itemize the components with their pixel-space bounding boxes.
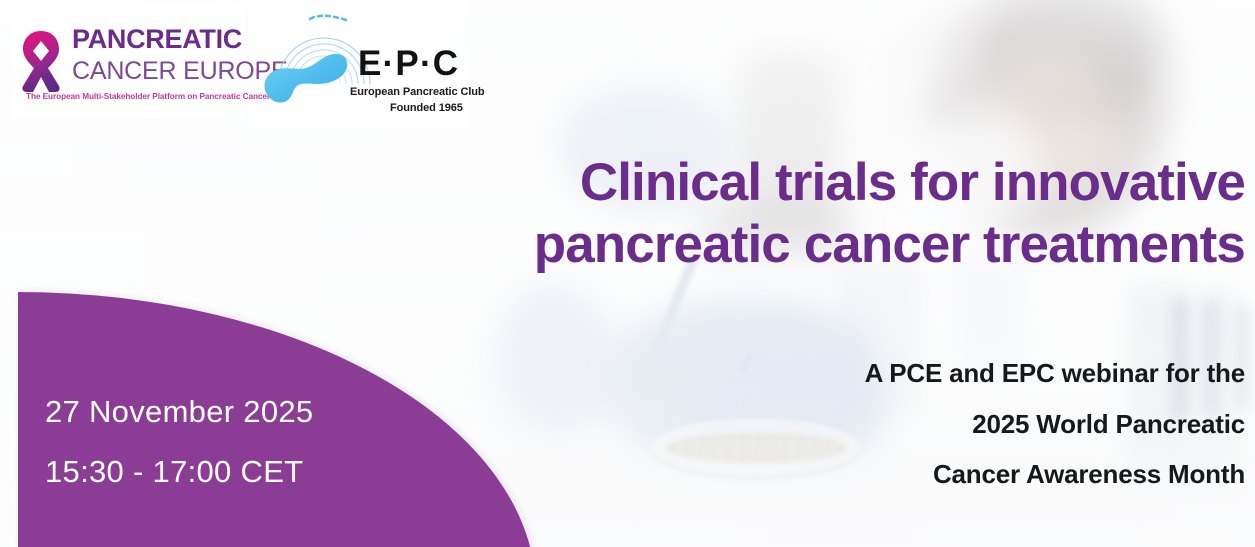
page-subtitle-line-3: Cancer Awareness Month	[640, 449, 1245, 500]
event-time: 15:30 - 17:00 CET	[45, 456, 313, 488]
awareness-ribbon-icon	[18, 30, 64, 94]
epc-name-line-1: European Pancreatic Club	[350, 86, 485, 98]
page-title-line-2: pancreatic cancer treatments	[300, 214, 1245, 276]
pce-tagline: The European Multi-Stakeholder Platform …	[26, 92, 270, 101]
webinar-banner: 27 November 2025 15:30 - 17:00 CET Clini…	[0, 0, 1255, 547]
logo-bar: PANCREATIC CANCER EUROPE The European Mu…	[0, 0, 470, 128]
pce-name-line-2: CANCER EUROPE	[72, 59, 288, 84]
epc-letters: E·P·C	[358, 46, 459, 81]
european-pancreatic-club-logo[interactable]: E·P·C European Pancreatic Club Founded 1…	[262, 14, 462, 114]
pce-name-line-1: PANCREATIC	[72, 26, 288, 53]
pancreas-blob-icon	[262, 52, 354, 119]
page-title: Clinical trials for innovative pancreati…	[300, 152, 1245, 276]
event-details-text: 27 November 2025 15:30 - 17:00 CET	[45, 396, 313, 487]
page-subtitle-line-1: A PCE and EPC webinar for the	[640, 348, 1245, 399]
page-title-line-1: Clinical trials for innovative	[300, 152, 1245, 214]
event-date: 27 November 2025	[45, 396, 313, 428]
pce-wordmark: PANCREATIC CANCER EUROPE	[72, 26, 288, 84]
epc-founded-year: Founded 1965	[390, 102, 463, 114]
page-subtitle-line-2: 2025 World Pancreatic	[640, 399, 1245, 450]
page-subtitle: A PCE and EPC webinar for the 2025 World…	[640, 348, 1245, 500]
